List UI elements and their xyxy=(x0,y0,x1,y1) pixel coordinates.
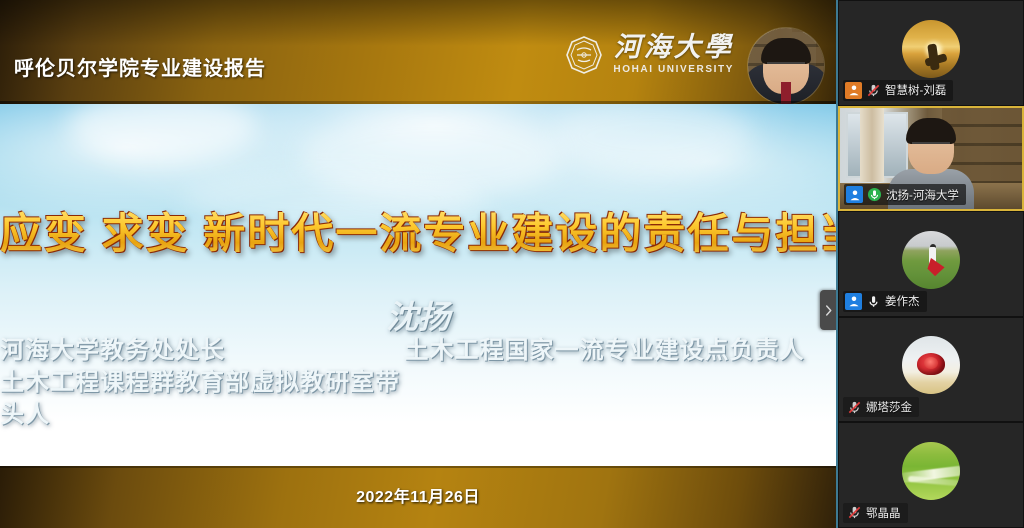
collapse-participants-rail-button[interactable] xyxy=(820,290,836,330)
participant-label: 智慧树-刘磊 xyxy=(843,80,953,101)
participant-avatar-photo xyxy=(902,336,960,394)
participant-name: 鄂晶晶 xyxy=(866,505,901,521)
speaker-portrait xyxy=(748,28,824,104)
participants-rail[interactable]: 智慧树-刘磊 xyxy=(836,0,1024,528)
participant-name: 姜作杰 xyxy=(885,293,920,309)
presentation-slide: 呼伦贝尔学院专业建设报告 河海大學 HOHAI UNIVERSITY xyxy=(0,0,836,528)
mic-on-icon xyxy=(867,187,882,202)
slide-main-title: 应变 求变 新时代一流专业建设的责任与担当 xyxy=(0,200,836,261)
participant-tile[interactable]: 沈扬-河海大学 xyxy=(838,106,1024,212)
person-avatar-icon xyxy=(845,82,862,99)
slide-header-title: 呼伦贝尔学院专业建设报告 xyxy=(14,52,266,81)
participant-avatar-photo xyxy=(902,231,960,289)
participant-tile[interactable]: 姜作杰 xyxy=(838,211,1024,317)
logo-name-en: HOHAI UNIVERSITY xyxy=(613,65,734,75)
participant-label: 鄂晶晶 xyxy=(843,503,908,523)
meeting-screen-share-view: 呼伦贝尔学院专业建设报告 河海大學 HOHAI UNIVERSITY xyxy=(0,0,1024,528)
participant-name: 沈扬-河海大学 xyxy=(886,187,959,203)
slide-header-bar: 呼伦贝尔学院专业建设报告 河海大學 HOHAI UNIVERSITY xyxy=(0,0,836,104)
university-logo: 河海大學 HOHAI UNIVERSITY xyxy=(564,34,734,75)
participant-label: 姜作杰 xyxy=(843,291,927,312)
shared-screen-stage[interactable]: 呼伦贝尔学院专业建设报告 河海大學 HOHAI UNIVERSITY xyxy=(0,0,836,528)
participant-name: 娜塔莎金 xyxy=(866,399,912,415)
slide-speaker-name: 沈扬 xyxy=(0,292,836,338)
university-seal-icon xyxy=(564,35,604,75)
subtitle-line: 土木工程课程群教育部虚拟教研室带头人 xyxy=(0,368,400,432)
participant-name: 智慧树-刘磊 xyxy=(885,82,946,98)
participant-tile[interactable]: 智慧树-刘磊 xyxy=(838,0,1024,106)
subtitle-line: 土木工程国家一流专业建设点负责人 xyxy=(404,336,804,368)
chevron-right-icon xyxy=(824,304,833,317)
mic-muted-icon xyxy=(847,400,862,415)
slide-date: 2022年11月26日 xyxy=(0,483,836,507)
participant-avatar-photo xyxy=(902,442,960,500)
participant-tile[interactable]: 鄂晶晶 xyxy=(838,422,1024,528)
mic-on-icon xyxy=(866,294,881,309)
logo-text: 河海大學 HOHAI UNIVERSITY xyxy=(613,34,734,75)
mic-muted-icon xyxy=(866,83,881,98)
participant-label: 沈扬-河海大学 xyxy=(844,184,966,205)
slide-body: 应变 求变 新时代一流专业建设的责任与担当 沈扬 河海大学教务处处长 土木工程国… xyxy=(0,104,836,466)
person-avatar-icon xyxy=(845,293,862,310)
logo-name-cn: 河海大學 xyxy=(614,34,734,61)
subtitle-line: 河海大学教务处处长 xyxy=(0,336,400,368)
participant-tile[interactable]: 娜塔莎金 xyxy=(838,317,1024,423)
participant-label: 娜塔莎金 xyxy=(843,397,919,417)
mic-muted-icon xyxy=(847,505,862,520)
participant-avatar-photo xyxy=(902,20,960,78)
slide-footer-bar: 2022年11月26日 xyxy=(0,466,836,528)
slide-subtitle-block: 河海大学教务处处长 土木工程国家一流专业建设点负责人 土木工程课程群教育部虚拟教… xyxy=(0,336,836,432)
person-avatar-icon xyxy=(846,186,863,203)
